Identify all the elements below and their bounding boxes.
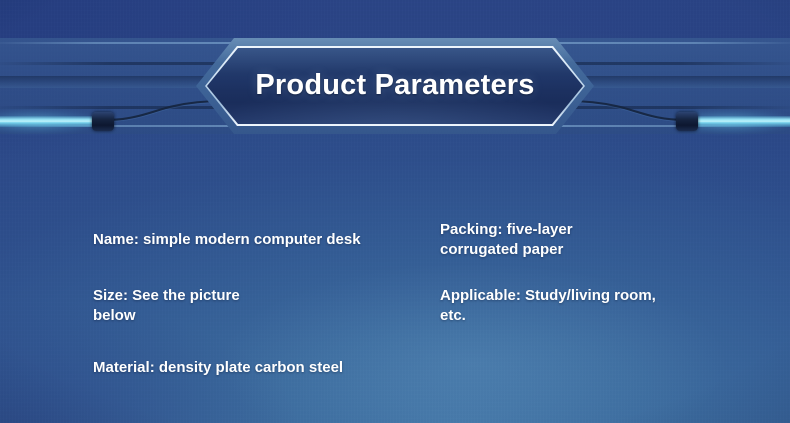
background-vignette	[0, 0, 790, 423]
product-parameters-banner-slide: Product Parameters Name: simple modern c…	[0, 0, 790, 423]
